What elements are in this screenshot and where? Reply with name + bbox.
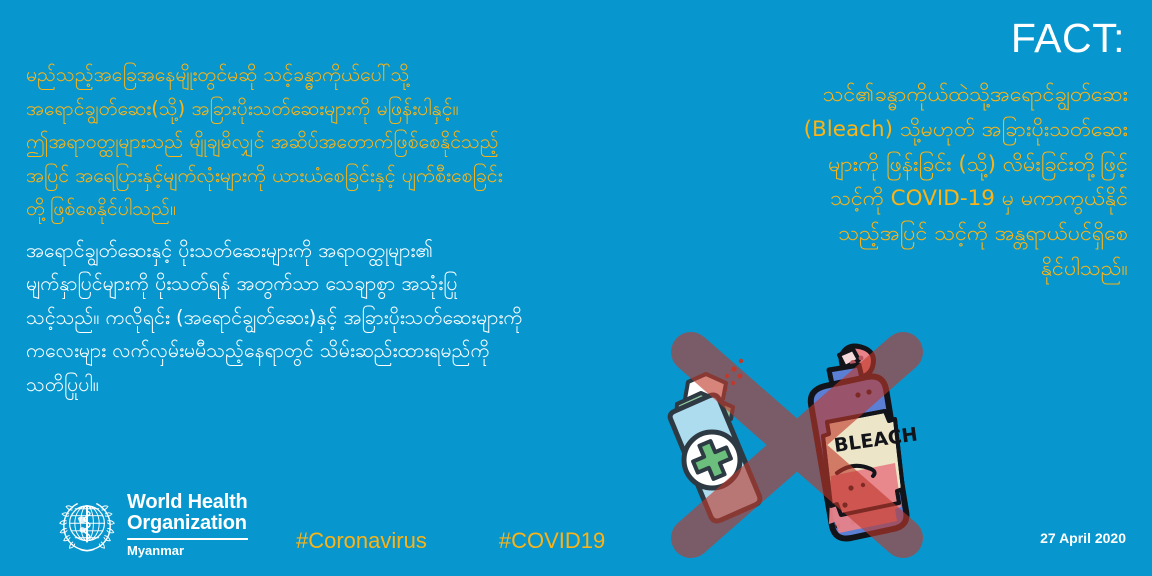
body-line: အရောင်ချွတ်ဆေး(သို့) အခြားပိုးသတ်ဆေးများ… <box>26 92 686 126</box>
who-wordmark: World Health Organization Myanmar <box>127 492 248 558</box>
spray-can-and-bleach-bottle-crossed-out-icon: BLEACH <box>655 330 935 576</box>
who-name-line-1: World Health <box>127 492 248 513</box>
claim-text-block: သင်၏ခန္ဓာကိုယ်ထဲသို့အရောင်ချွတ်ဆေး (Blea… <box>658 78 1128 287</box>
who-name-line-2: Organization <box>127 513 248 534</box>
claim-line: (Bleach) သို့မဟုတ် အခြားပိုးသတ်ဆေး <box>658 113 1128 148</box>
hashtag-covid19[interactable]: #COVID19 <box>499 528 605 554</box>
date-stamp: 27 April 2020 <box>1040 530 1126 546</box>
hashtag-coronavirus[interactable]: #Coronavirus <box>296 528 427 554</box>
claim-line: များကို ဖြန်းခြင်း (သို့) လိမ်းခြင်းတို့… <box>658 148 1128 183</box>
body-line: ဤအရာဝတ္ထုများသည် မျိုချမိလျှင် အဆိပ်အတော… <box>26 125 686 159</box>
claim-line: နိုင်ပါသည်။ <box>658 252 1128 287</box>
body-line: အရောင်ချွတ်ဆေးနှင့် ပိုးသတ်ဆေးများကို အရ… <box>26 234 686 268</box>
claim-line: သင့်ကို COVID-19 မှ မကာကွယ်နိုင် <box>658 182 1128 217</box>
claim-line: သင်၏ခန္ဓာကိုယ်ထဲသို့အရောင်ချွတ်ဆေး <box>658 78 1128 113</box>
body-line: မည်သည့်အခြေအနေမျိုးတွင်မဆို သင့်ခန္ဓာကို… <box>26 58 686 92</box>
who-logo: World Health Organization Myanmar <box>58 492 248 558</box>
body-line: မျက်နှာပြင်များကို ပိုးသတ်ရန် အတွက်သာ သေ… <box>26 267 686 301</box>
body-line: အပြင် အရေပြားနှင့်မျက်လုံးများကို ယားယံစ… <box>26 159 686 193</box>
body-paragraph-warning: မည်သည့်အခြေအနေမျိုးတွင်မဆို သင့်ခန္ဓာကို… <box>26 58 686 226</box>
body-line: သတိပြုပါ။ <box>26 368 686 402</box>
body-paragraph-advice: အရောင်ချွတ်ဆေးနှင့် ပိုးသတ်ဆေးများကို အရ… <box>26 234 686 402</box>
body-line: တို့ဖြစ်စေနိုင်ပါသည်။ <box>26 192 686 226</box>
hashtag-group: #Coronavirus #COVID19 <box>296 528 605 554</box>
who-country-label: Myanmar <box>127 544 248 558</box>
body-text-column: မည်သည့်အခြေအနေမျိုးတွင်မဆို သင့်ခန္ဓာကို… <box>26 58 686 409</box>
page-title: FACT: <box>1011 18 1125 59</box>
who-divider <box>127 538 248 540</box>
fact-poster: FACT: သင်၏ခန္ဓာကိုယ်ထဲသို့အရောင်ချွတ်ဆေး… <box>0 0 1152 576</box>
claim-line: သည့်အပြင် သင့်ကို အန္တရာယ်ပင်ရှိစေ <box>658 217 1128 252</box>
who-emblem-icon <box>58 496 116 554</box>
body-line: သင့်သည်။ ကလိုရင်း (အရောင်ချွတ်ဆေး)နှင့် … <box>26 301 686 335</box>
body-line: ကလေးများ လက်လှမ်းမမီသည့်နေရာတွင် သိမ်းဆည… <box>26 334 686 368</box>
